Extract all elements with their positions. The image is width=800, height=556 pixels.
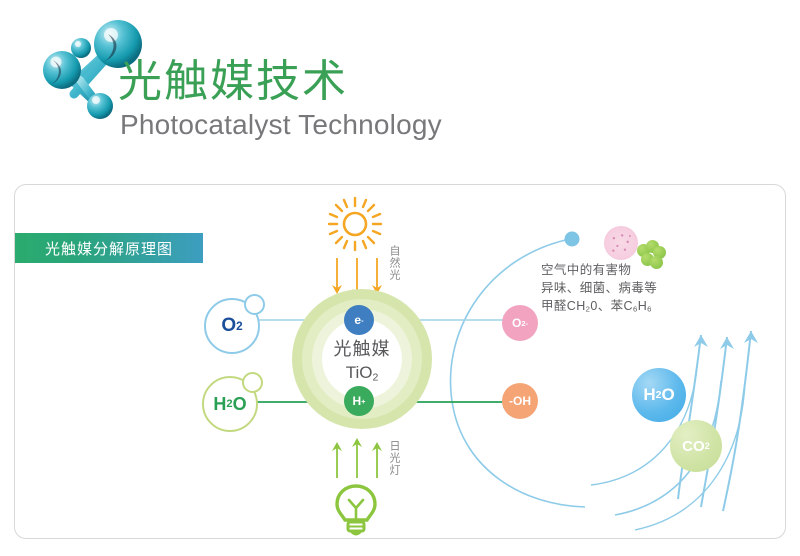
pollutant-line-2: 异味、细菌、病毒等 bbox=[541, 279, 657, 297]
hydroxyl-radical-chip: -OH bbox=[502, 383, 538, 419]
natural-light-label: 自然光 bbox=[387, 245, 400, 281]
water-output: H2O bbox=[632, 368, 686, 422]
sun-icon bbox=[325, 196, 385, 252]
carbon-dioxide-output: CO2 bbox=[670, 420, 722, 472]
water-bubble-satellite bbox=[242, 372, 263, 393]
diagram-page: 光触媒技术 Photocatalyst Technology 光触媒分解原理图 bbox=[0, 0, 800, 556]
page-title-en: Photocatalyst Technology bbox=[120, 108, 442, 142]
lamp-light-label: 日光灯 bbox=[387, 440, 400, 476]
pollutant-line-1: 空气中的有害物 bbox=[541, 261, 657, 279]
lightbulb-icon bbox=[333, 484, 379, 536]
core-formula: TiO2 bbox=[292, 361, 432, 389]
virus-icon bbox=[604, 226, 638, 260]
core-label: 光触媒 TiO2 bbox=[292, 337, 432, 389]
page-header: 光触媒技术 Photocatalyst Technology bbox=[0, 0, 800, 170]
core-label-cn: 光触媒 bbox=[292, 337, 432, 361]
oxygen-bubble-satellite bbox=[244, 294, 265, 315]
page-title-cn: 光触媒技术 bbox=[118, 58, 348, 106]
pollutant-description: 空气中的有害物 异味、细菌、病毒等 甲醛CH20、苯C6H6 bbox=[541, 261, 657, 319]
pollutant-line-3: 甲醛CH20、苯C6H6 bbox=[541, 297, 657, 319]
superoxide-chip: O2- bbox=[502, 305, 538, 341]
electron-chip: e- bbox=[344, 305, 374, 335]
hole-chip: H+ bbox=[344, 386, 374, 416]
